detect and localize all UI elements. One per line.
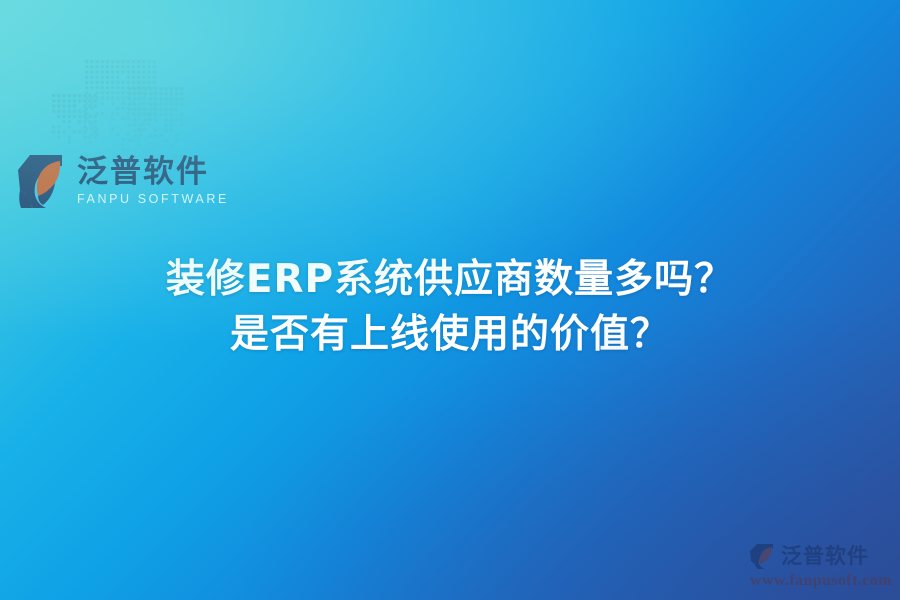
brand-logo: 泛普软件 FANPU SOFTWARE — [16, 152, 229, 210]
watermark-url: www.fanpusoft.com — [750, 572, 890, 590]
fanpu-watermark-logo-icon — [750, 542, 776, 570]
headline: 装修ERP系统供应商数量多吗？ 是否有上线使用的价值？ — [0, 252, 900, 363]
pixel-buildings-graphic — [38, 42, 188, 162]
logo-company-name-cn: 泛普软件 — [77, 156, 229, 188]
watermark: 泛普软件 www.fanpusoft.com — [750, 542, 890, 590]
promo-banner: 泛普软件 FANPU SOFTWARE 装修ERP系统供应商数量多吗？ 是否有上… — [0, 0, 900, 600]
headline-line-1: 装修ERP系统供应商数量多吗？ — [0, 252, 900, 307]
watermark-logo-row: 泛普软件 — [750, 542, 890, 570]
watermark-company-name: 泛普软件 — [781, 546, 869, 567]
fanpu-hexagon-logo-icon — [16, 152, 68, 210]
logo-company-name-en: FANPU SOFTWARE — [77, 192, 229, 206]
headline-line-2: 是否有上线使用的价值？ — [0, 307, 900, 362]
